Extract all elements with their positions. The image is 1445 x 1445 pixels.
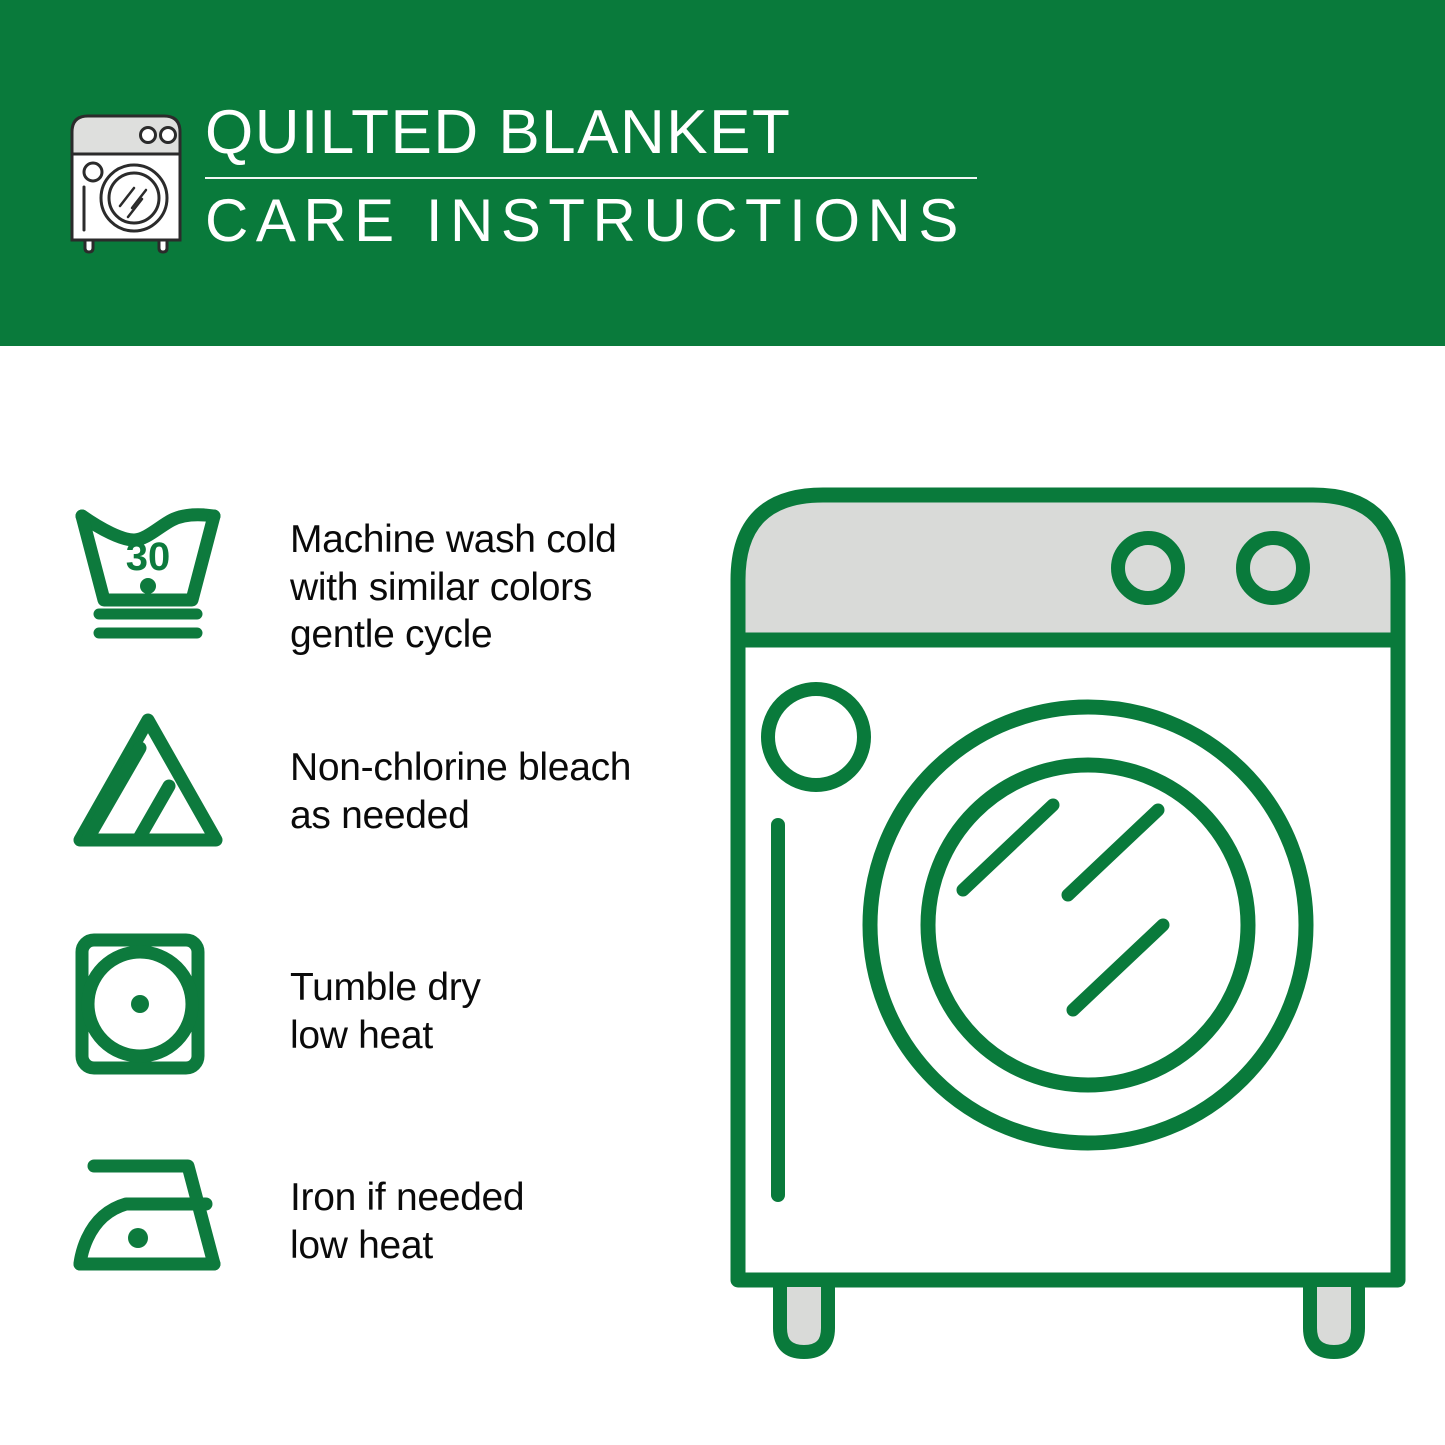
title-divider-rule xyxy=(205,177,977,179)
machine-leg xyxy=(1310,1280,1358,1352)
tumble-dry-low-icon xyxy=(68,930,228,1080)
care-instruction-item: Non-chlorine bleach as needed xyxy=(0,708,700,898)
care-instruction-item: 30 Machine wash cold with similar colors… xyxy=(0,496,700,686)
machine-drum-inner xyxy=(928,765,1248,1085)
care-instruction-text: Iron if needed low heat xyxy=(290,1142,524,1269)
machine-dispenser-circle xyxy=(768,689,864,785)
header-title-block: QUILTED BLANKET CARE INSTRUCTIONS xyxy=(205,100,980,252)
header-logo-washing-machine-icon xyxy=(62,102,190,254)
wash-tub-30-gentle-icon: 30 xyxy=(68,496,228,646)
page-subtitle: CARE INSTRUCTIONS xyxy=(205,189,980,252)
header-band: QUILTED BLANKET CARE INSTRUCTIONS xyxy=(0,0,1445,346)
non-chlorine-bleach-triangle-icon xyxy=(68,708,228,858)
machine-leg xyxy=(780,1280,828,1352)
page-title: QUILTED BLANKET xyxy=(205,100,980,165)
care-instruction-item: Tumble dry low heat xyxy=(0,930,700,1120)
iron-low-heat-icon xyxy=(68,1142,228,1292)
care-instructions-poster: QUILTED BLANKET CARE INSTRUCTIONS 30 xyxy=(0,0,1445,1445)
machine-drum-streaks xyxy=(963,805,1163,1010)
care-instruction-text: Tumble dry low heat xyxy=(290,930,481,1059)
care-instruction-text: Non-chlorine bleach as needed xyxy=(290,708,631,839)
washing-machine-illustration xyxy=(718,470,1418,1370)
care-instruction-text: Machine wash cold with similar colors ge… xyxy=(290,496,617,659)
care-instruction-item: Iron if needed low heat xyxy=(0,1142,700,1332)
wash-temperature-label: 30 xyxy=(126,535,171,579)
care-instruction-list: 30 Machine wash cold with similar colors… xyxy=(0,346,700,1445)
